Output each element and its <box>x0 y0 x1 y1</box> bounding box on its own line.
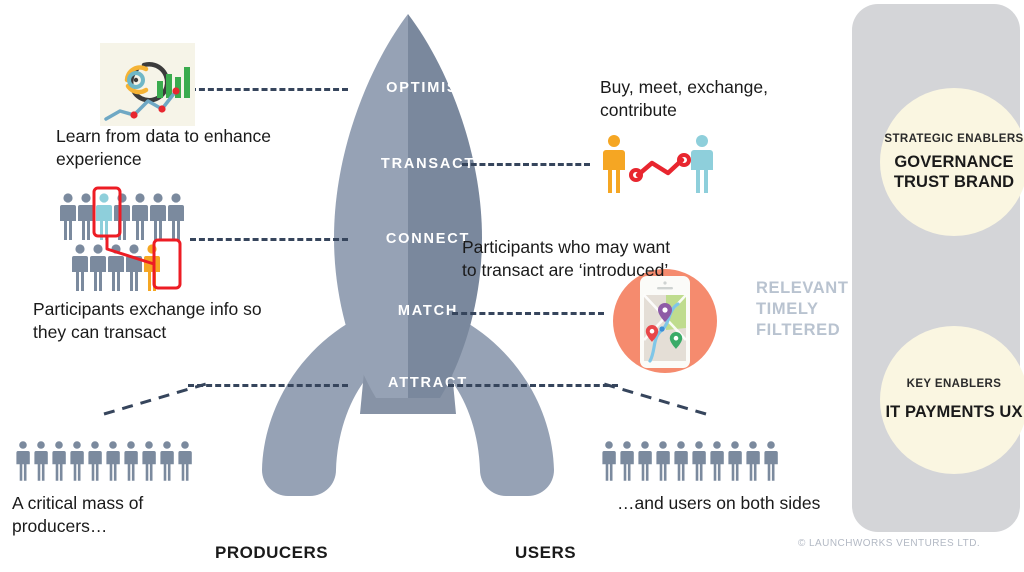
transaction-pair-icon <box>598 133 726 198</box>
connector-attract-leg-right <box>600 370 710 416</box>
enabler-circle-key: KEY ENABLERS IT PAYMENTS UX <box>880 326 1024 474</box>
connector-attract-right <box>448 384 618 387</box>
enabler-circle-strategic: STRATEGIC ENABLERS GOVERNANCE TRUST BRAN… <box>880 88 1024 236</box>
strategic-enablers-kicker: STRATEGIC ENABLERS <box>884 132 1023 146</box>
connector-optimise <box>190 88 348 91</box>
key-enablers-items: IT PAYMENTS UX <box>885 403 1022 422</box>
data-analytics-icon <box>100 43 195 126</box>
callout-both-sides: …and users on both sides <box>617 492 827 515</box>
copyright-notice: © LAUNCHWORKS VENTURES LTD. <box>798 538 1024 549</box>
rocket-stage-attract: ATTRACT <box>328 375 528 391</box>
callout-introduced: Participants who may want to transact ar… <box>462 236 672 282</box>
callout-learn-from-data: Learn from data to enhance experience <box>56 125 286 171</box>
people-row-producers <box>16 440 196 487</box>
person-orange <box>603 135 625 193</box>
connector-match <box>452 312 604 315</box>
callout-participants-exchange: Participants exchange info so they can t… <box>33 298 283 344</box>
strategic-enablers-items: GOVERNANCE TRUST BRAND <box>880 153 1024 192</box>
person-blue <box>691 135 713 193</box>
people-row-users <box>602 440 782 487</box>
connector-connect <box>190 238 348 241</box>
rocket-stage-match: MATCH <box>328 303 528 319</box>
map-phone-icon <box>612 268 718 374</box>
rocket-stage-optimise: OPTIMISE <box>328 80 528 96</box>
connector-attract-leg-left <box>100 370 210 416</box>
key-enablers-kicker: KEY ENABLERS <box>907 377 1002 391</box>
base-label-users: USERS <box>515 543 576 563</box>
callout-critical-mass: A critical mass of producers… <box>12 492 222 538</box>
exchange-link-icon <box>631 155 689 180</box>
callout-buy-meet-exchange: Buy, meet, exchange, contribute <box>600 76 820 122</box>
diagram-canvas: STRATEGIC ENABLERS GOVERNANCE TRUST BRAN… <box>0 0 1024 572</box>
connector-transact <box>462 163 590 166</box>
callout-relevant-timely-filtered: RELEVANT TIMELY FILTERED <box>756 278 876 341</box>
base-label-producers: PRODUCERS <box>215 543 328 563</box>
highlight-connector <box>92 186 192 290</box>
connector-attract-left <box>188 384 348 387</box>
